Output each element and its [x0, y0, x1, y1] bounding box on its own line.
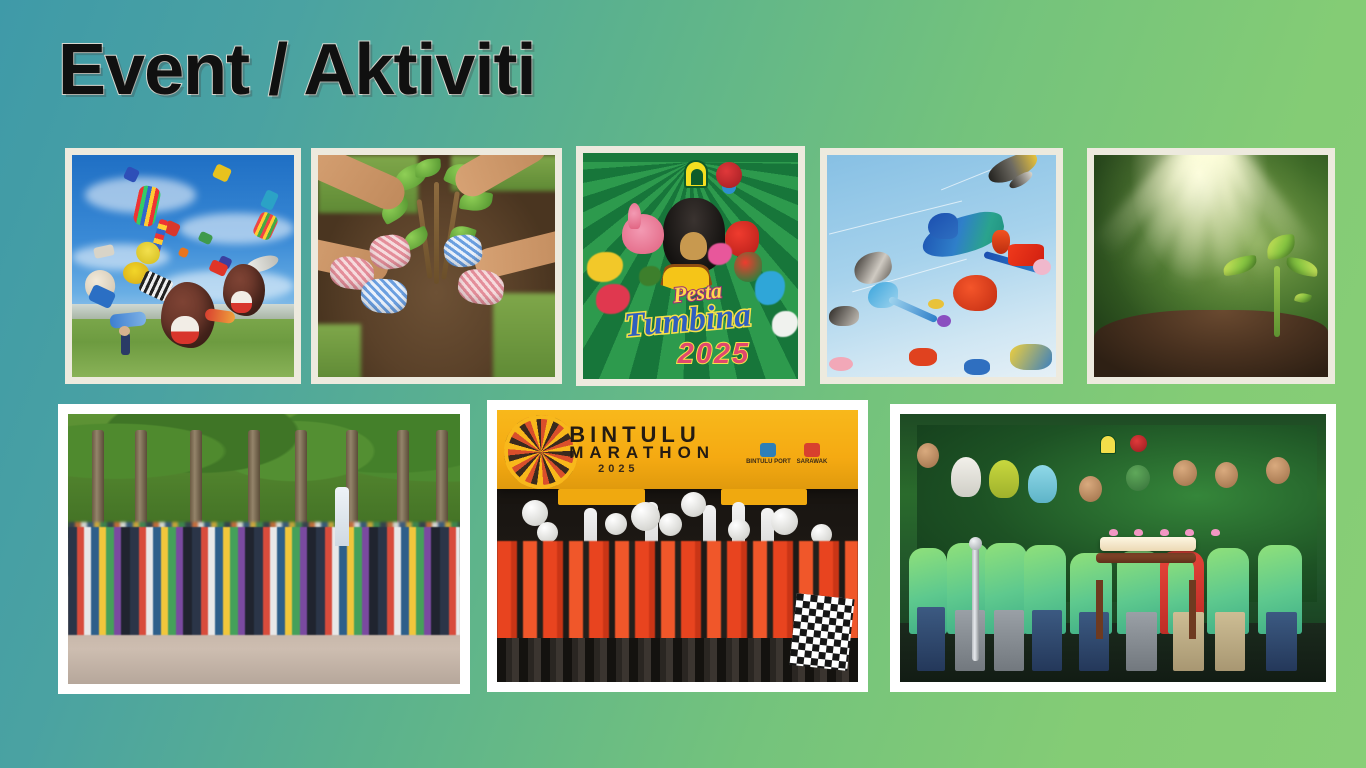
cake-ceremony-image	[900, 414, 1326, 682]
photo-kite-sky[interactable]: Inflatable seahorse, dinosaur and animal…	[820, 148, 1063, 384]
bintulu-marathon-image: BINTULU MARATHON 2025 BINTULU PORT SARAW…	[497, 410, 858, 682]
photo-cake-ceremony[interactable]: Officials in green polo shirts cutting a…	[890, 404, 1336, 692]
sponsor-bintulu-port: BINTULU PORT	[746, 443, 791, 466]
group-photo-image	[68, 414, 460, 684]
seedling-image	[1094, 155, 1328, 377]
photo-gallery: Kite festival with large inflatable chip…	[0, 0, 1366, 768]
sponsor-sarawak: SARAWAK	[797, 443, 828, 466]
photo-kite-festival[interactable]: Kite festival with large inflatable chip…	[65, 148, 301, 384]
kite-sky-image	[827, 155, 1056, 377]
tumbina-poster-image: Pesta Tumbina 2025	[583, 153, 798, 379]
marathon-subtitle: MARATHON	[569, 444, 715, 461]
kite-festival-image	[72, 155, 294, 377]
marathon-year: 2025	[598, 464, 638, 475]
poster-line3: 2025	[678, 338, 751, 371]
photo-bintulu-marathon[interactable]: BINTULU MARATHON 2025 BINTULU PORT SARAW…	[487, 400, 868, 692]
photo-group-photo[interactable]: Large crowd of participants posing toget…	[58, 404, 470, 694]
photo-seedling[interactable]: Young green seedling sprouting from dark…	[1087, 148, 1335, 384]
photo-tree-planting[interactable]: Several hands in pink and blue cotton wo…	[311, 148, 562, 384]
photo-tumbina-poster[interactable]: Pesta Tumbina 2025 Pesta Tumbina 2025 ev…	[576, 146, 805, 386]
tree-planting-image	[318, 155, 555, 377]
